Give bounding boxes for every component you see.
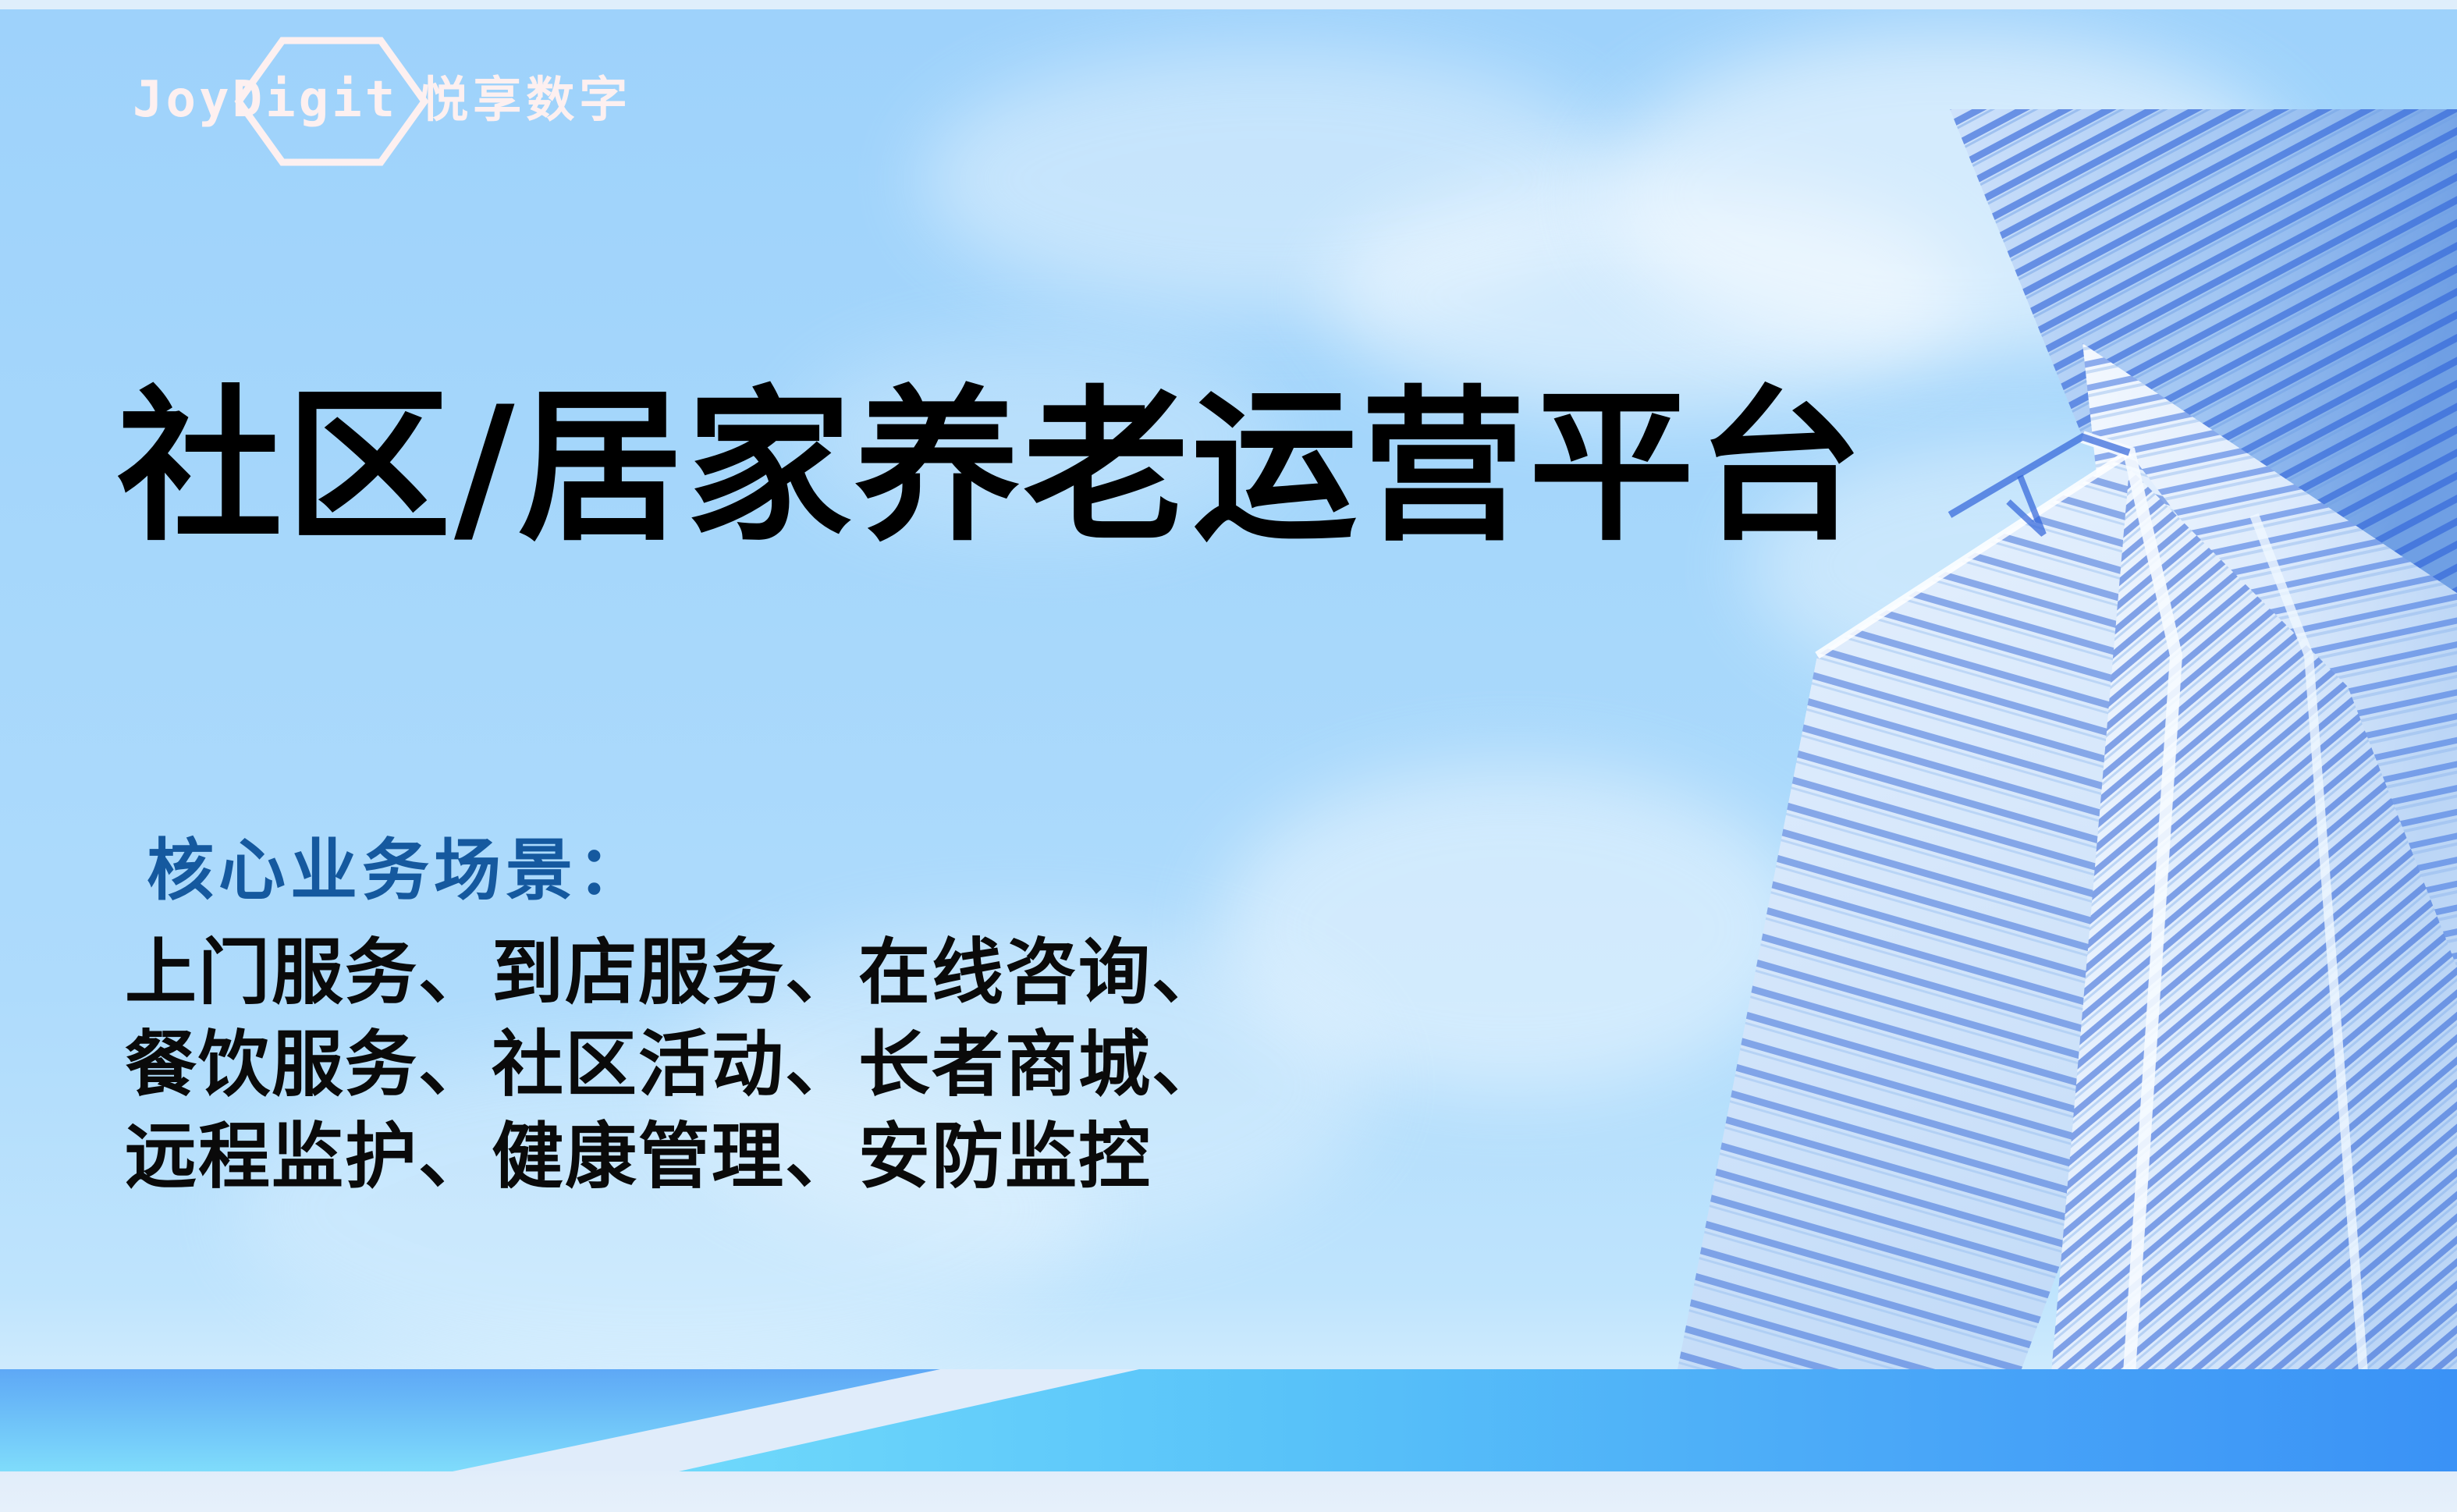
presentation-slide: JoyDigit 悦享数字 社区/居家养老运营平台 核心业务场景： 上门服务、到…: [0, 0, 2457, 1512]
logo-wordmark: JoyDigit: [133, 75, 398, 125]
skyscraper-photo: [1583, 109, 2457, 1373]
section-heading: 核心业务场景：: [147, 837, 649, 904]
scene-line: 上门服务、到店服务、在线咨询、: [125, 927, 1225, 1019]
scene-line: 远程监护、健康管理、安防监控: [125, 1111, 1225, 1203]
logo-chinese-name: 悦享数字: [420, 76, 632, 124]
footer-bottom-strip: [0, 1471, 2457, 1512]
scene-list: 上门服务、到店服务、在线咨询、 餐饮服务、社区活动、长者商城、 远程监护、健康管…: [125, 927, 1225, 1202]
brand-logo[interactable]: JoyDigit 悦享数字: [133, 64, 632, 136]
page-title: 社区/居家养老运营平台: [117, 374, 1866, 559]
scene-line: 餐饮服务、社区活动、长者商城、: [125, 1019, 1225, 1111]
top-edge-strip: [0, 0, 2457, 9]
